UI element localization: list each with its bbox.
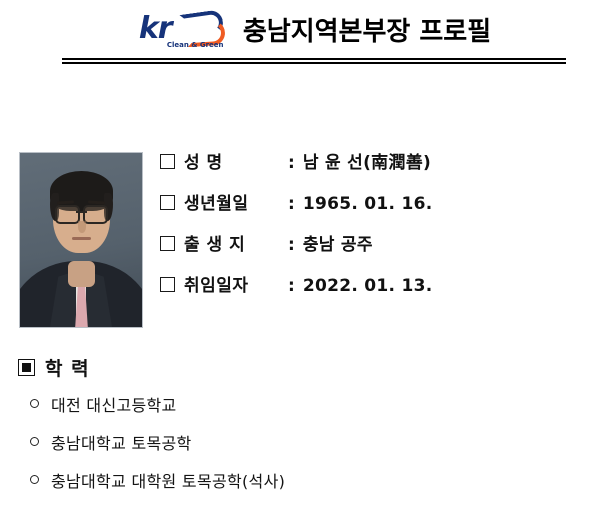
education-item-text: 충남대학교 토목공학 (51, 430, 192, 454)
profile-info-list: 성 명 : 남 윤 선(南潤善) 생년월일 : 1965. 01. 16. 출 … (160, 148, 580, 312)
mouth-shape (72, 237, 91, 240)
filled-square-inner (22, 363, 31, 372)
nose-shape (78, 221, 86, 233)
info-value: 2022. 01. 13. (303, 276, 433, 296)
checkbox-icon (160, 154, 175, 169)
info-label: 취임일자 (184, 271, 288, 296)
info-colon: : (288, 276, 295, 296)
circle-bullet-icon (30, 475, 39, 484)
circle-bullet-icon (30, 437, 39, 446)
glasses-lens-right (83, 205, 108, 224)
kr-logo: kr Clean & Green (137, 10, 233, 54)
list-item: 대전 대신고등학교 (30, 392, 600, 430)
glasses-bridge (76, 211, 87, 213)
info-label: 성 명 (184, 148, 288, 173)
info-colon: : (288, 235, 295, 255)
education-section: 학 력 대전 대신고등학교 충남대학교 토목공학 충남대학교 대학원 토목공학(… (0, 352, 600, 522)
page-header: kr Clean & Green 충남지역본부장 프로필 (0, 0, 600, 78)
glasses-lens-left (55, 205, 80, 224)
info-value: 1965. 01. 16. (303, 194, 433, 214)
education-item-text: 충남대학교 대학원 토목공학(석사) (51, 468, 285, 492)
filled-square-bullet-icon (18, 359, 35, 376)
page-title: 충남지역본부장 프로필 (243, 15, 491, 49)
neck-shape (68, 261, 95, 287)
header-divider (62, 58, 566, 64)
divider-line-top (62, 58, 566, 60)
logo-wordmark: kr (139, 14, 172, 44)
info-value: 남 윤 선(南潤善) (303, 148, 431, 173)
list-item: 충남대학교 토목공학 (30, 430, 600, 468)
info-row-name: 성 명 : 남 윤 선(南潤善) (160, 148, 580, 189)
info-value: 충남 공주 (303, 230, 373, 255)
list-item: 충남대학교 대학원 토목공학(석사) (30, 468, 600, 506)
circle-bullet-icon (30, 399, 39, 408)
header-row: kr Clean & Green 충남지역본부장 프로필 (62, 8, 566, 56)
info-row-appointment-date: 취임일자 : 2022. 01. 13. (160, 271, 580, 312)
info-colon: : (288, 153, 295, 173)
checkbox-icon (160, 195, 175, 210)
info-colon: : (288, 194, 295, 214)
education-list: 대전 대신고등학교 충남대학교 토목공학 충남대학교 대학원 토목공학(석사) (0, 392, 600, 506)
info-row-birthdate: 생년월일 : 1965. 01. 16. (160, 189, 580, 230)
info-row-birthplace: 출 생 지 : 충남 공주 (160, 230, 580, 271)
portrait-image (20, 153, 142, 327)
info-label: 생년월일 (184, 189, 288, 214)
glasses-icon (55, 205, 108, 220)
checkbox-icon (160, 236, 175, 251)
checkbox-icon (160, 277, 175, 292)
logo-tagline: Clean & Green (167, 41, 224, 49)
education-section-title: 학 력 (45, 354, 90, 381)
divider-line-bottom (62, 62, 566, 64)
info-label: 출 생 지 (184, 230, 288, 255)
profile-photo (19, 152, 143, 328)
education-section-header: 학 력 (18, 352, 600, 382)
education-item-text: 대전 대신고등학교 (51, 392, 177, 416)
